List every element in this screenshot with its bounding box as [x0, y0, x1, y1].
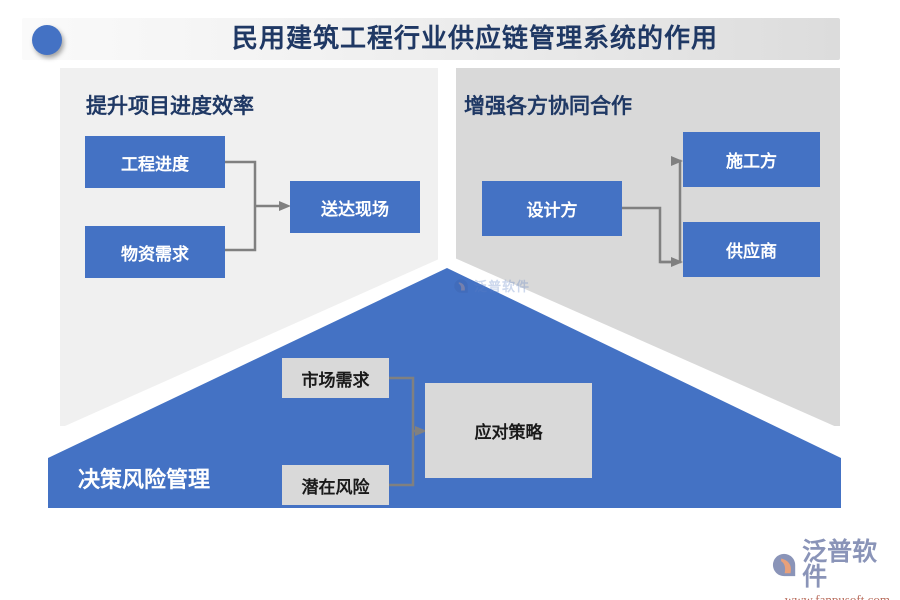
box-project-progress[interactable]: 工程进度 [85, 136, 225, 188]
center-watermark-text: 泛普软件 [474, 276, 530, 295]
box-delivery-to-site[interactable]: 送达现场 [290, 181, 420, 233]
box-response-strategy[interactable]: 应对策略 [425, 383, 592, 478]
box-designer[interactable]: 设计方 [482, 181, 622, 236]
fanpu-logo-icon [770, 549, 798, 581]
logo-name: 泛普软件 [802, 540, 890, 590]
box-contractor[interactable]: 施工方 [683, 132, 820, 187]
bottom-section-label: 决策风险管理 [78, 462, 210, 494]
slide-canvas: 民用建筑工程行业供应链管理系统的作用 提升项目进度效率 增强各方协同合作 [0, 0, 900, 600]
page-title: 民用建筑工程行业供应链管理系统的作用 [130, 20, 820, 58]
panel-left-heading: 提升项目进度效率 [86, 90, 254, 120]
center-watermark: 泛普软件 [452, 276, 530, 295]
box-market-demand[interactable]: 市场需求 [282, 358, 389, 398]
circle-bullet-icon [32, 25, 62, 55]
fanpu-logo-icon [452, 277, 470, 295]
logo-url: www.fanpusoft.com [770, 592, 890, 600]
box-supplier[interactable]: 供应商 [683, 222, 820, 277]
box-potential-risk[interactable]: 潜在风险 [282, 465, 389, 505]
brand-logo: 泛普软件 www.fanpusoft.com [770, 540, 890, 590]
logo-row: 泛普软件 [770, 540, 890, 590]
box-material-demand[interactable]: 物资需求 [85, 226, 225, 278]
panel-right-heading: 增强各方协同合作 [464, 90, 632, 120]
